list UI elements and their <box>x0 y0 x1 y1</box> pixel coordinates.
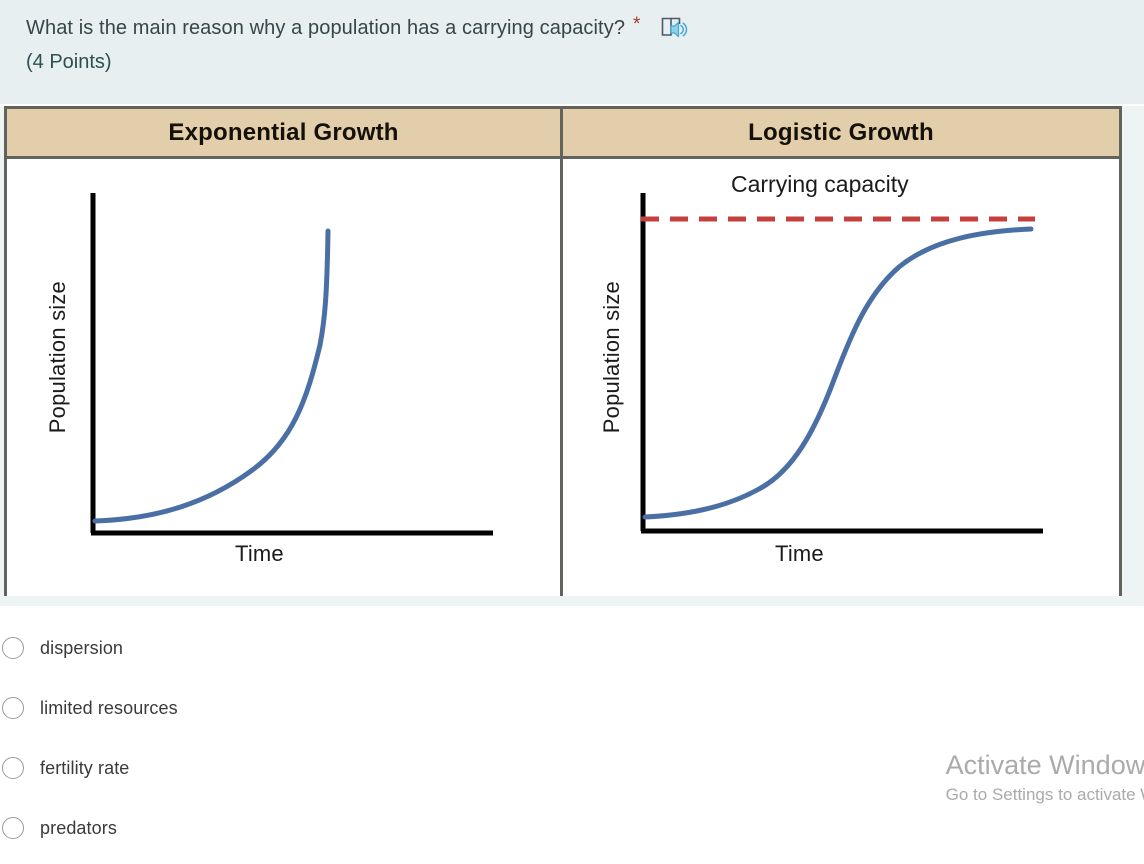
option-label-limited-resources: limited resources <box>40 698 178 719</box>
radio-button-limited-resources[interactable] <box>2 697 24 719</box>
diagram-bottom-gutter <box>0 596 1144 606</box>
option-label-fertility-rate: fertility rate <box>40 758 129 779</box>
panel-exponential-growth: Exponential Growth Population size Time <box>7 109 563 596</box>
logistic-growth-plot <box>563 159 1119 596</box>
panel-header-exponential: Exponential Growth <box>7 109 560 159</box>
option-label-predators: predators <box>40 818 117 839</box>
answer-options-list: dispersion limited resources fertility r… <box>0 618 1144 858</box>
diagram-right-gutter <box>1122 106 1144 596</box>
immersive-reader-speaker-icon[interactable] <box>660 15 688 41</box>
points-label: (4 Points) <box>26 47 112 77</box>
diagram-panels: Exponential Growth Population size Time … <box>7 109 1119 596</box>
option-row-fertility-rate[interactable]: fertility rate <box>0 738 1144 798</box>
option-label-dispersion: dispersion <box>40 638 123 659</box>
panel-logistic-growth: Logistic Growth Population size Time Car… <box>563 109 1119 596</box>
radio-button-predators[interactable] <box>2 817 24 839</box>
panel-header-logistic: Logistic Growth <box>563 109 1119 159</box>
option-row-limited-resources[interactable]: limited resources <box>0 678 1144 738</box>
radio-button-dispersion[interactable] <box>2 637 24 659</box>
panel-body-exponential: Population size Time <box>7 159 560 596</box>
required-asterisk: * <box>633 12 640 38</box>
panel-title-exponential: Exponential Growth <box>168 119 398 147</box>
page-title: What is the main reason why a population… <box>26 12 625 44</box>
option-row-predators[interactable]: predators <box>0 798 1144 858</box>
question-line: What is the main reason why a population… <box>26 12 688 44</box>
option-row-dispersion[interactable]: dispersion <box>0 618 1144 678</box>
question-header-band: What is the main reason why a population… <box>0 0 1144 104</box>
exponential-growth-plot <box>7 159 563 596</box>
growth-curves-diagram: Exponential Growth Population size Time … <box>4 106 1122 596</box>
panel-title-logistic: Logistic Growth <box>748 119 934 147</box>
panel-body-logistic: Population size Time Carrying capacity <box>563 159 1119 596</box>
radio-button-fertility-rate[interactable] <box>2 757 24 779</box>
